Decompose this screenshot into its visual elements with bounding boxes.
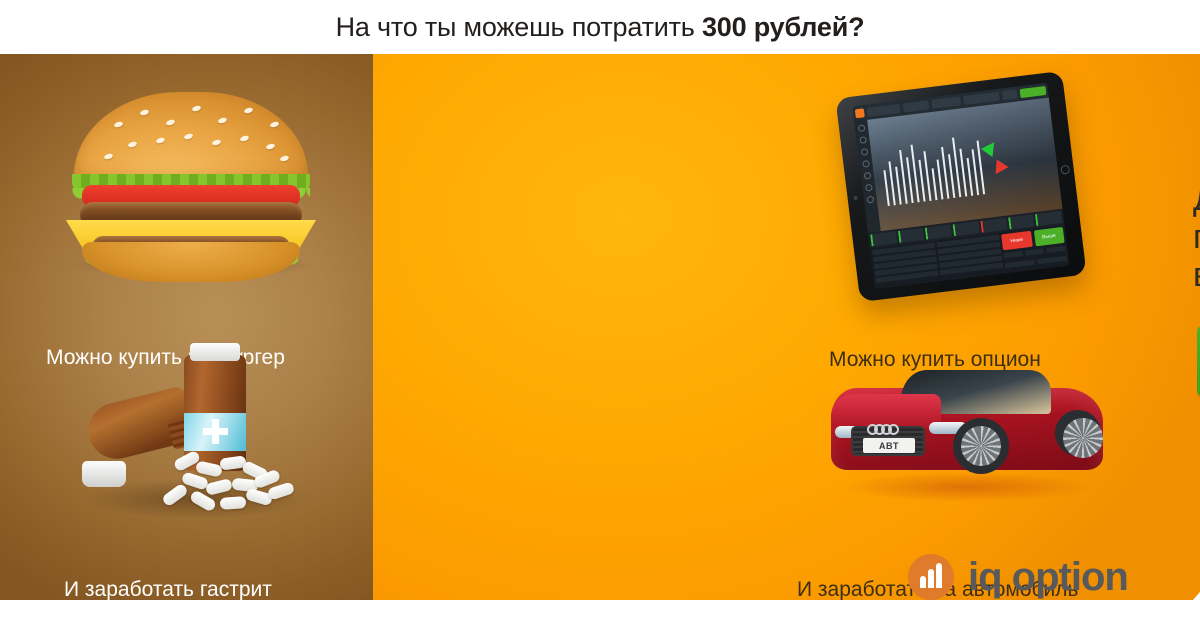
car-hood (831, 394, 941, 428)
pills-image (78, 339, 310, 529)
page-title-prefix: На что ты можешь потратить (336, 12, 702, 42)
footer-strip (0, 600, 1200, 628)
page-title-highlight: 300 рублей? (702, 12, 864, 42)
pill-bottle-cap (190, 343, 240, 361)
banner-body: Можно купить гамбургер И (0, 54, 1200, 600)
cta-headline-line3: выбор! (1193, 256, 1200, 294)
iq-option-logo-icon (908, 554, 954, 600)
burger-panel: Можно купить гамбургер И (0, 54, 373, 600)
iq-option-logo-text: iq option (968, 555, 1128, 600)
option-panel: Ниже Выше (373, 54, 1200, 600)
car-rear-wheel (1055, 410, 1101, 456)
platform-candlestick-chart (867, 98, 1062, 231)
hamburger-image (52, 84, 330, 284)
car-image: ABT (805, 354, 1125, 504)
cta-headline-line1: Делай (1193, 180, 1200, 218)
cta-headline: Делай правильный выбор! (1193, 180, 1200, 294)
tablet-screen: Ниже Выше (852, 83, 1069, 290)
platform-lower-button[interactable]: Ниже (1001, 231, 1032, 250)
footer-white-shape (1193, 544, 1200, 600)
medical-cross-icon-bar (203, 428, 228, 435)
chart-up-arrow-icon (981, 138, 1000, 157)
car-license-plate: ABT (863, 438, 915, 453)
audi-rings-icon (867, 424, 899, 435)
car-reflection (841, 472, 1093, 502)
platform-logo-icon (855, 108, 865, 118)
iq-option-logo[interactable]: iq option (908, 554, 1128, 600)
platform-higher-button[interactable]: Выше (1033, 227, 1064, 246)
tablet-image: Ниже Выше (835, 71, 1086, 302)
hamburger-bottom-bun (82, 242, 300, 282)
caption-earn-gastritis: И заработать гастрит (64, 578, 272, 600)
pill-loose-cap (82, 461, 126, 487)
page-title: На что ты можешь потратить 300 рублей? (336, 12, 865, 43)
car-front-wheel (953, 418, 1009, 474)
chart-down-arrow-icon (990, 159, 1009, 178)
cta-headline-line2: правильный (1193, 218, 1200, 256)
banner-header: На что ты можешь потратить 300 рублей? (0, 0, 1200, 54)
